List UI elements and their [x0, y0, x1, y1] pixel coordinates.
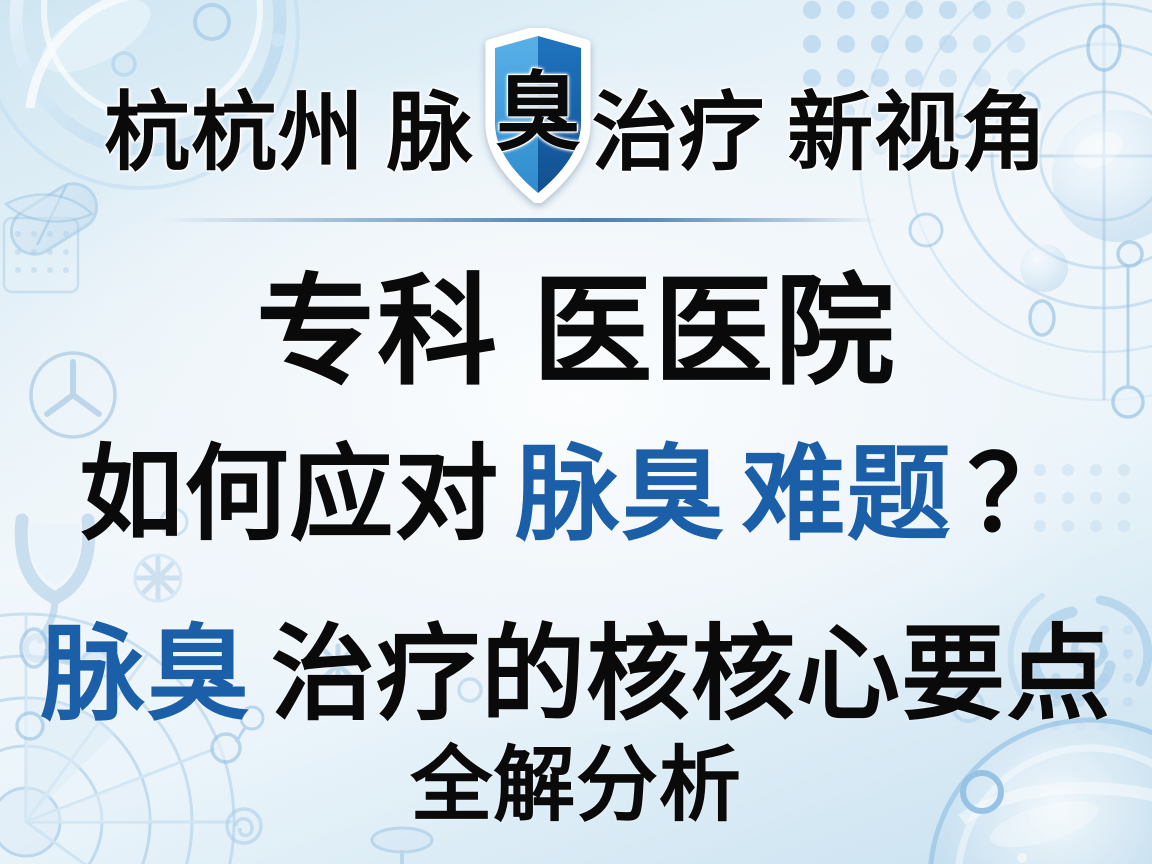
question-mark: ？ [968, 443, 1073, 547]
title-part-keyword-1: 脉 [387, 90, 474, 176]
core-points-line: 脉臭 治疗的核核心要点 [0, 612, 1152, 737]
tagline-text: 全解分析 [410, 745, 741, 827]
question-highlight-problem: 难题 [742, 443, 952, 547]
poster-canvas: 臭 杭杭州 脉 治疗 新视角 专科 医医院 如何应对 脉臭 难题 ？ [0, 0, 1152, 864]
subtitle-part-specialty: 专科 [256, 272, 498, 392]
shield-badge-char: 臭 [483, 28, 593, 203]
subtitle-line: 专科 医医院 [0, 262, 1152, 402]
title-part-treatment: 治疗 [592, 90, 766, 176]
question-lead: 如何应对 [79, 443, 499, 547]
tagline-line: 全解分析 [0, 736, 1152, 836]
title-part-city: 杭杭州 [104, 90, 365, 176]
question-highlight-keyword: 脉臭 [515, 443, 725, 547]
core-rest-text: 治疗的核核心要点 [271, 623, 1111, 727]
title-part-perspective: 新视角 [787, 90, 1048, 176]
question-line: 如何应对 脉臭 难题 ？ [0, 432, 1152, 557]
subtitle-part-hospital: 医医院 [532, 272, 896, 392]
core-highlight-keyword: 脉臭 [41, 623, 251, 727]
